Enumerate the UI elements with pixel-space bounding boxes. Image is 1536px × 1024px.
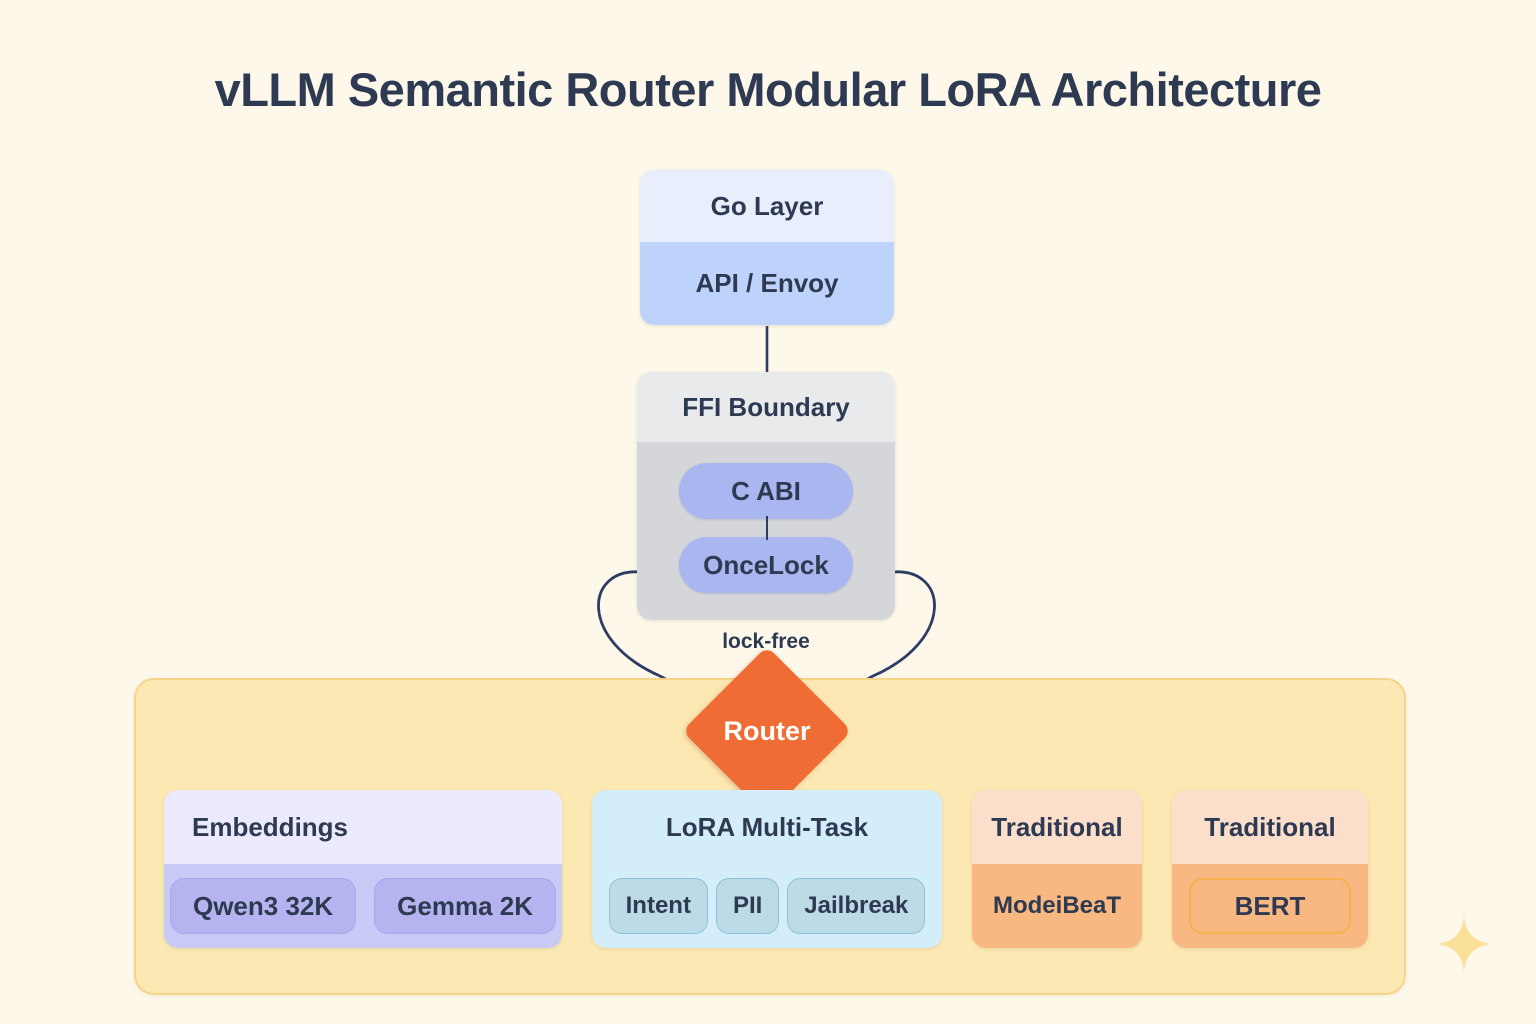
node-qwen3-32k[interactable]: Qwen3 32K [170,878,356,934]
router-label: Router [684,676,850,786]
traditional-1-header: Traditional [972,790,1142,864]
traditional-1-body: ModeiBeaT [972,864,1142,948]
embeddings-header: Embeddings [164,790,562,864]
node-oncelock[interactable]: OnceLock [679,537,853,593]
traditional-2-header: Traditional [1172,790,1368,864]
ffi-boundary-header: FFI Boundary [637,372,895,442]
node-gemma-2k[interactable]: Gemma 2K [374,878,556,934]
node-traditional-2[interactable]: Traditional BERT [1172,790,1368,948]
lora-body: Intent PII Jailbreak [592,864,942,948]
node-bert[interactable]: BERT [1189,878,1351,934]
go-layer-header: Go Layer [640,170,894,242]
edge-cabi-to-oncelock [766,516,768,540]
node-lora-multi-task[interactable]: LoRA Multi-Task Intent PII Jailbreak [592,790,942,948]
node-c-abi[interactable]: C ABI [679,463,853,519]
node-intent[interactable]: Intent [609,878,708,934]
node-go-layer[interactable]: Go Layer API / Envoy [640,170,894,325]
diagram-canvas: vLLM Semantic Router Modular LoRA Archit… [0,0,1536,1024]
go-layer-body: API / Envoy [640,242,894,325]
node-router[interactable]: Router [684,676,850,786]
lora-header: LoRA Multi-Task [592,790,942,864]
embeddings-body: Qwen3 32K Gemma 2K [164,864,562,948]
node-embeddings[interactable]: Embeddings Qwen3 32K Gemma 2K [164,790,562,948]
traditional-2-body: BERT [1172,864,1368,948]
sparkle-icon [1432,912,1496,976]
node-traditional-1[interactable]: Traditional ModeiBeaT [972,790,1142,948]
node-ffi-boundary[interactable]: FFI Boundary C ABI OnceLock [637,372,895,620]
node-pii[interactable]: PII [716,878,779,934]
node-jailbreak[interactable]: Jailbreak [787,878,925,934]
page-title: vLLM Semantic Router Modular LoRA Archit… [0,62,1536,117]
